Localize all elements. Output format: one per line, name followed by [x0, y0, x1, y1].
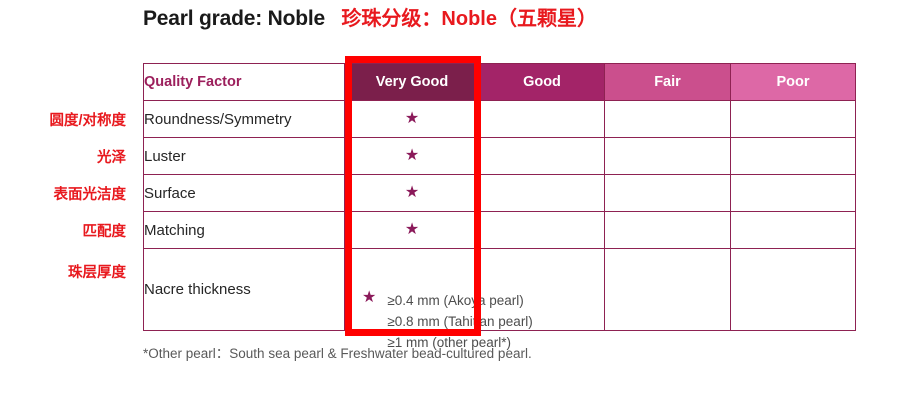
- chinese-label-luster: 光泽: [14, 138, 130, 175]
- cell-poor-surface: [731, 175, 856, 212]
- column-header-fair: Fair: [605, 64, 731, 101]
- cell-good-surface: [480, 175, 605, 212]
- cell-fair-matching: [605, 212, 731, 249]
- star-icon: ★: [405, 185, 419, 201]
- star-icon: ★: [362, 290, 376, 306]
- cell-good-roundness: [480, 101, 605, 138]
- cell-very-good-matching: ★: [345, 212, 480, 249]
- table-row: Luster ★: [144, 138, 856, 175]
- pearl-grade-table: Quality Factor Very Good Good Fair Poor …: [143, 63, 856, 331]
- cell-very-good-roundness: ★: [345, 101, 480, 138]
- page-title: Pearl grade: Noble 珍珠分级：Noble（五颗星）: [143, 8, 597, 29]
- cell-poor-luster: [731, 138, 856, 175]
- cell-very-good-luster: ★: [345, 138, 480, 175]
- cell-fair-luster: [605, 138, 731, 175]
- cell-poor-nacre: [731, 249, 856, 331]
- cell-factor-roundness: Roundness/Symmetry: [144, 101, 345, 138]
- column-header-good: Good: [480, 64, 605, 101]
- star-icon: ★: [405, 148, 419, 164]
- column-header-quality-factor: Quality Factor: [144, 64, 345, 101]
- table-header-row: Quality Factor Very Good Good Fair Poor: [144, 64, 856, 101]
- cell-fair-nacre: [605, 249, 731, 331]
- chinese-label-nacre: 珠层厚度: [14, 249, 130, 293]
- cell-poor-roundness: [731, 101, 856, 138]
- chinese-label-surface: 表面光洁度: [14, 175, 130, 212]
- cell-very-good-nacre: ★ ≥0.4 mm (Akoya pearl) ≥0.8 mm (Tahitia…: [345, 249, 480, 331]
- cell-factor-nacre: Nacre thickness: [144, 249, 345, 331]
- nacre-spec-akoya: ≥0.4 mm (Akoya pearl): [387, 290, 532, 311]
- table-row: Surface ★: [144, 175, 856, 212]
- column-header-very-good: Very Good: [345, 64, 480, 101]
- table-row: Nacre thickness ★ ≥0.4 mm (Akoya pearl) …: [144, 249, 856, 331]
- star-icon: ★: [405, 222, 419, 238]
- column-header-poor: Poor: [731, 64, 856, 101]
- footnote: *Other pearl：South sea pearl & Freshwate…: [143, 342, 532, 362]
- chinese-row-labels: 圆度/对称度 光泽 表面光洁度 匹配度 珠层厚度: [14, 101, 130, 293]
- cell-factor-luster: Luster: [144, 138, 345, 175]
- cell-very-good-surface: ★: [345, 175, 480, 212]
- nacre-spec-tahitian: ≥0.8 mm (Tahitian pearl): [387, 311, 532, 332]
- chinese-label-roundness: 圆度/对称度: [14, 101, 130, 138]
- table-row: Matching ★: [144, 212, 856, 249]
- cell-factor-surface: Surface: [144, 175, 345, 212]
- cell-good-matching: [480, 212, 605, 249]
- chinese-label-matching: 匹配度: [14, 212, 130, 249]
- page-title-chinese: 珍珠分级：Noble（五颗星）: [341, 8, 597, 30]
- cell-fair-roundness: [605, 101, 731, 138]
- star-icon: ★: [405, 111, 419, 127]
- cell-fair-surface: [605, 175, 731, 212]
- page-title-english: Pearl grade: Noble: [143, 7, 325, 30]
- table-row: Roundness/Symmetry ★: [144, 101, 856, 138]
- cell-good-luster: [480, 138, 605, 175]
- cell-factor-matching: Matching: [144, 212, 345, 249]
- cell-poor-matching: [731, 212, 856, 249]
